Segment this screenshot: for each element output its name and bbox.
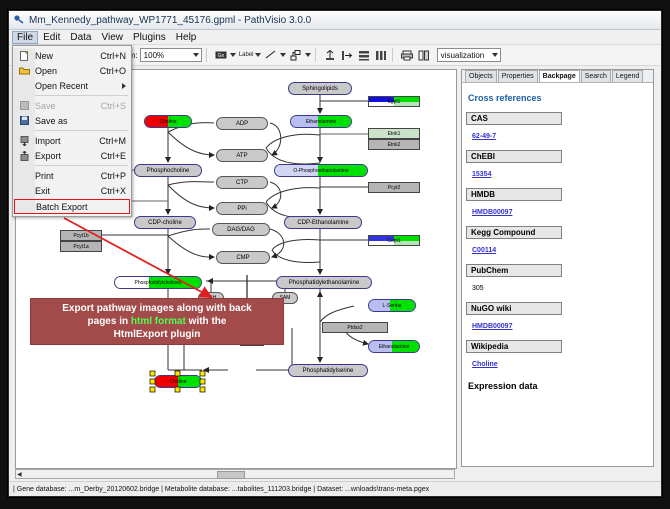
status-bar: | Gene database: ...m_Derby_20120602.bri…	[9, 481, 661, 496]
svg-text:Gn: Gn	[218, 53, 225, 59]
node-label: Choline	[170, 379, 187, 385]
align-top-icon	[324, 49, 337, 62]
chevron-down-icon	[193, 53, 199, 57]
menu-item-label: Save as	[35, 116, 131, 126]
menu-item-label: Import	[35, 136, 99, 146]
submenu-arrow-icon	[122, 83, 126, 89]
menu-item-open-recent[interactable]: Open Recent	[13, 78, 131, 93]
chevron-down-icon[interactable]	[280, 53, 286, 57]
node-cdp-ethanolamine[interactable]: CDP-Ethanolamine	[284, 216, 362, 229]
save-as-icon	[13, 116, 35, 125]
align-left-button[interactable]	[341, 49, 354, 62]
annotation-callout: Export pathway images along with back pa…	[30, 298, 284, 345]
node-label: Etnk1	[388, 131, 401, 137]
menu-item-shortcut: Ctrl+O	[100, 66, 126, 76]
menu-item-label: Print	[35, 171, 101, 181]
backpage-content: Cross references CAS 62-49-7 ChEBI 15354…	[466, 87, 649, 462]
menu-item-open[interactable]: Open Ctrl+O	[13, 63, 131, 78]
stack-horizontal-icon	[375, 49, 388, 62]
node-etnk1[interactable]: Etnk1	[368, 128, 420, 139]
node-phosphocholine[interactable]: Phosphocholine	[134, 164, 202, 177]
window-title: Mm_Kennedy_pathway_WP1771_45176.gpml - P…	[29, 15, 311, 26]
db-value-pubchem: 305	[472, 285, 484, 292]
node-ctp[interactable]: CTP	[216, 176, 268, 189]
menu-item-label: Open	[35, 66, 100, 76]
visualization-value: visualization	[441, 51, 485, 60]
chevron-down-icon[interactable]	[305, 53, 311, 57]
new-file-icon	[13, 51, 35, 61]
menu-item-shortcut: Ctrl+N	[100, 51, 126, 61]
side-panel-tabs[interactable]: Objects Properties Backpage Search Legen…	[462, 70, 653, 83]
tab-backpage[interactable]: Backpage	[539, 70, 580, 82]
db-link-kegg-compound[interactable]: C00114	[472, 247, 496, 254]
open-folder-icon	[13, 66, 35, 75]
node-choline-selected[interactable]: Choline	[154, 375, 202, 388]
menu-item-shortcut: Ctrl+P	[101, 171, 126, 181]
node-label: CMP	[236, 255, 249, 261]
toolbar-separator	[315, 48, 316, 62]
node-l-serine[interactable]: L-Serine	[368, 299, 416, 312]
db-link-nugo-wiki[interactable]: HMDB00097	[472, 323, 512, 330]
tab-objects[interactable]: Objects	[465, 70, 497, 82]
menu-item-import[interactable]: Import Ctrl+M	[13, 133, 131, 148]
annotation-html-format: html format	[131, 316, 186, 327]
menu-bar[interactable]: File Edit Data View Plugins Help	[9, 30, 661, 45]
status-text: | Gene database: ...m_Derby_20120602.bri…	[13, 486, 429, 493]
title-bar: Mm_Kennedy_pathway_WP1771_45176.gpml - P…	[9, 11, 661, 30]
visualization-combo[interactable]: visualization	[437, 48, 501, 62]
tab-search[interactable]: Search	[581, 70, 611, 82]
node-label: CDP-Ethanolamine	[297, 220, 348, 226]
menu-item-shortcut: Ctrl+S	[101, 101, 126, 111]
node-label: Pcyt1b	[73, 233, 88, 239]
node-pcyt1b[interactable]: Pcyt1b	[60, 230, 102, 241]
menu-item-batch-export[interactable]: Batch Export	[14, 199, 130, 214]
export-icon	[13, 151, 35, 161]
import-icon	[13, 136, 35, 146]
node-label: Phosphocholine	[147, 168, 190, 174]
node-label: Sgpl1	[388, 99, 401, 105]
pathvisio-window: Mm_Kennedy_pathway_WP1771_45176.gpml - P…	[8, 10, 662, 497]
node-choline-top[interactable]: Choline	[144, 115, 192, 128]
toolbar-separator	[392, 48, 393, 62]
menu-item-label: Exit	[35, 186, 101, 196]
menu-item-label: Open Recent	[35, 81, 122, 91]
menu-plugins[interactable]: Plugins	[128, 31, 171, 44]
expression-data-title: Expression data	[468, 381, 649, 391]
db-header-chebi: ChEBI	[466, 150, 562, 163]
tab-legend[interactable]: Legend	[612, 70, 643, 82]
menu-view[interactable]: View	[96, 31, 128, 44]
node-phosphatidylethanolamine[interactable]: Phosphatidylethanolamine	[276, 276, 372, 289]
zoom-value: 100%	[144, 51, 164, 60]
node-cept1[interactable]: Cept1	[368, 235, 420, 246]
node-label: Etnk2	[388, 142, 401, 148]
scroll-left-icon[interactable]: ◀	[17, 471, 22, 478]
line-icon	[265, 49, 278, 62]
chevron-down-icon[interactable]	[230, 53, 236, 57]
menu-item-shortcut: Ctrl+M	[99, 136, 126, 146]
annotation-line-1: Export pathway images along with back	[62, 302, 252, 315]
db-link-chebi[interactable]: 15354	[472, 171, 491, 178]
gene-product-icon: Gn	[215, 49, 228, 62]
menu-file[interactable]: File	[12, 31, 38, 44]
node-ppi[interactable]: PPi	[216, 202, 268, 215]
align-top-button[interactable]	[324, 49, 337, 62]
menu-help[interactable]: Help	[171, 31, 202, 44]
toolbar-separator	[206, 48, 207, 62]
menu-item-export[interactable]: Export Ctrl+E	[13, 148, 131, 163]
printer-icon	[401, 49, 414, 62]
node-ptdss2[interactable]: Ptdss2	[322, 322, 388, 333]
menu-item-print[interactable]: Print Ctrl+P	[13, 168, 131, 183]
screen-background: Mm_Kennedy_pathway_WP1771_45176.gpml - P…	[0, 0, 670, 509]
node-label: PPi	[237, 206, 246, 212]
canvas-horizontal-scrollbar[interactable]: ◀	[15, 469, 455, 479]
save-disk-icon	[13, 101, 35, 110]
node-sgpl1[interactable]: Sgpl1	[368, 96, 420, 107]
node-cdp-choline[interactable]: CDP-choline	[134, 216, 196, 229]
datanode-tool-button[interactable]: Gn	[215, 49, 236, 62]
menu-item-label: Export	[35, 151, 101, 161]
node-label: Ethanolamine	[379, 344, 410, 350]
annotation-line-2: pages in html format with the	[88, 315, 227, 328]
pathvisio-icon	[13, 14, 25, 26]
db-header-hmdb: HMDB	[466, 188, 562, 201]
label-icon: Label	[240, 49, 253, 62]
label-tool-button[interactable]: Label	[240, 49, 261, 62]
node-atp[interactable]: ATP	[216, 149, 268, 162]
menu-edit[interactable]: Edit	[38, 31, 65, 44]
node-label: Pcyt1a	[73, 244, 88, 250]
scrollbar-thumb[interactable]	[217, 471, 245, 479]
node-label: CDP-choline	[148, 220, 182, 226]
menu-item-save-as[interactable]: Save as	[13, 113, 131, 128]
db-header-kegg-compound: Kegg Compound	[466, 226, 562, 239]
node-label: Ethanolamine	[306, 119, 337, 125]
node-ethanolamine-2[interactable]: Ethanolamine	[368, 340, 420, 353]
node-pcyt1a[interactable]: Pcyt1a	[60, 241, 102, 252]
node-label: L-Serine	[383, 303, 402, 309]
menu-item-exit[interactable]: Exit Ctrl+X	[13, 183, 131, 198]
node-phosphatidylcholines[interactable]: Phosphatidylcholines	[114, 276, 202, 289]
node-phosphatidylserine[interactable]: Phosphatidylserine	[288, 364, 368, 377]
node-label: Sphingolipids	[302, 86, 338, 92]
db-header-cas: CAS	[466, 112, 562, 125]
node-label: Pcyt2	[388, 185, 401, 191]
db-link-cas[interactable]: 62-49-7	[472, 133, 496, 140]
node-label: Cept1	[387, 238, 400, 244]
node-o-phosphoethanolamine[interactable]: O-Phosphoethanolamine	[274, 164, 368, 177]
node-label: CTP	[236, 180, 248, 186]
print-button[interactable]	[401, 49, 414, 62]
node-adp[interactable]: ADP	[216, 117, 268, 130]
tab-properties[interactable]: Properties	[498, 70, 538, 82]
menu-item-shortcut: Ctrl+X	[101, 186, 126, 196]
shape-icon	[290, 49, 303, 62]
menu-item-label: Batch Export	[36, 202, 129, 212]
menu-item-save: Save Ctrl+S	[13, 98, 131, 113]
db-header-wikipedia: Wikipedia	[466, 340, 562, 353]
node-cmp[interactable]: CMP	[216, 251, 270, 264]
node-label: ATP	[236, 153, 247, 159]
node-label: Ptdss2	[347, 325, 362, 331]
node-label: DAG/DAG	[227, 227, 255, 233]
stack-vertical-icon	[358, 49, 371, 62]
stack-horizontal-button[interactable]	[375, 49, 388, 62]
shape-tool-button[interactable]	[290, 49, 311, 62]
node-label: Phosphatidylserine	[303, 368, 354, 374]
layout-icon	[418, 49, 431, 62]
db-header-pubchem: PubChem	[466, 264, 562, 277]
node-label: Choline	[160, 119, 177, 125]
chevron-down-icon	[492, 53, 498, 57]
stack-vertical-button[interactable]	[358, 49, 371, 62]
node-label: Phosphatidylcholines	[135, 280, 182, 286]
align-left-icon	[341, 49, 354, 62]
node-label: ADP	[236, 121, 248, 127]
cross-references-title: Cross references	[468, 93, 649, 103]
menu-item-label: Save	[35, 101, 101, 111]
annotation-line-2-post: with the	[186, 316, 227, 327]
chevron-down-icon[interactable]	[255, 53, 261, 57]
side-panel: Objects Properties Backpage Search Legen…	[461, 69, 654, 467]
node-dag[interactable]: DAG/DAG	[212, 223, 270, 236]
node-label: Phosphatidylethanolamine	[289, 280, 359, 286]
annotation-line-2-pre: pages in	[88, 316, 131, 327]
file-menu-dropdown[interactable]: New Ctrl+N Open Ctrl+O Open Recent Save …	[12, 45, 132, 217]
db-link-hmdb[interactable]: HMDB00097	[472, 209, 512, 216]
menu-item-shortcut: Ctrl+E	[101, 151, 126, 161]
layout-button[interactable]	[418, 49, 431, 62]
node-sphingolipids[interactable]: Sphingolipids	[288, 82, 352, 95]
menu-data[interactable]: Data	[65, 31, 96, 44]
db-link-wikipedia[interactable]: Choline	[472, 361, 498, 368]
menu-item-new[interactable]: New Ctrl+N	[13, 48, 131, 63]
node-etnk2[interactable]: Etnk2	[368, 139, 420, 150]
menu-item-label: New	[35, 51, 100, 61]
node-pcyt2[interactable]: Pcyt2	[368, 182, 420, 193]
zoom-combo[interactable]: 100%	[140, 48, 202, 62]
node-label: O-Phosphoethanolamine	[293, 168, 348, 174]
node-ethanolamine[interactable]: Ethanolamine	[290, 115, 352, 128]
db-header-nugo-wiki: NuGO wiki	[466, 302, 562, 315]
line-tool-button[interactable]	[265, 49, 286, 62]
annotation-line-3: HtmlExport plugin	[114, 328, 201, 341]
